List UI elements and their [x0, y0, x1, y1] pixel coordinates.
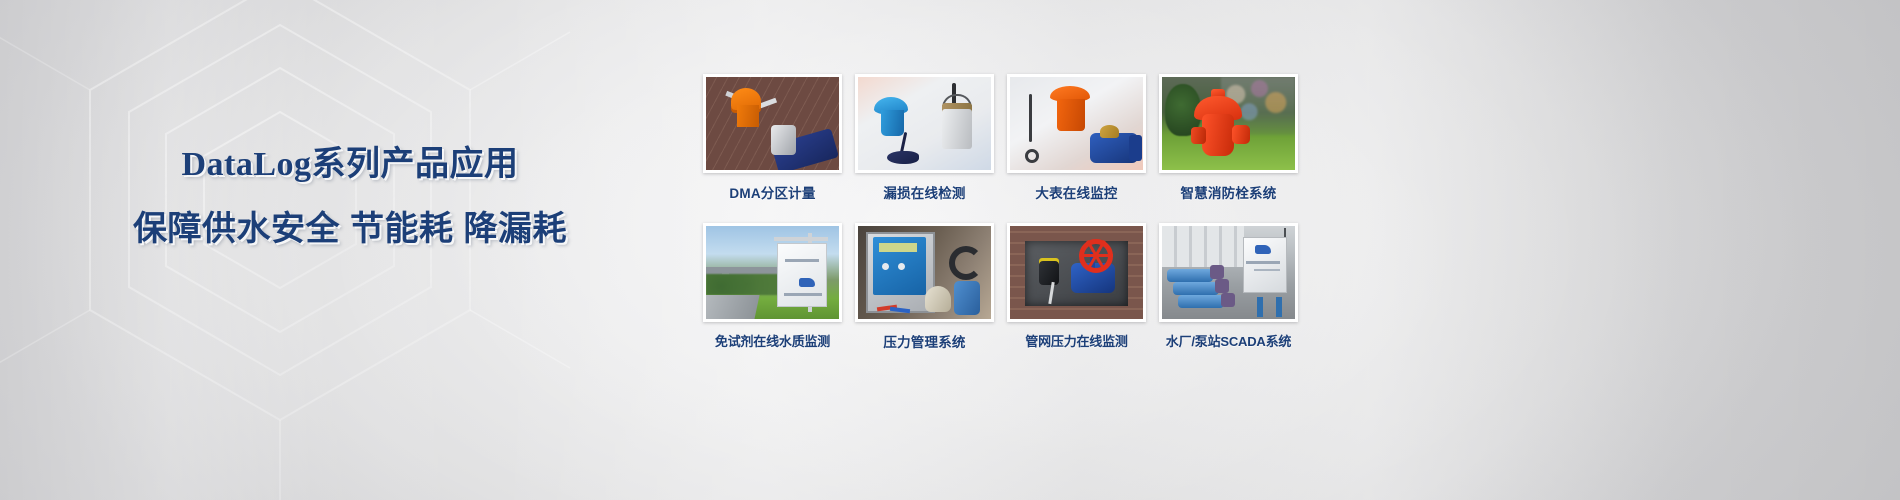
thumbnail-frame[interactable] [855, 223, 994, 322]
hexagon-watermark [0, 0, 590, 500]
product-gallery: DMA分区计量 漏损在线检测 [703, 74, 1853, 351]
thumbnail-frame[interactable] [1007, 74, 1146, 173]
gallery-item-water-quality-monitoring[interactable]: 免试剂在线水质监测 [703, 223, 842, 351]
headline-line-1: DataLog系列产品应用 [0, 148, 700, 182]
promo-banner: DataLog系列产品应用 保障供水安全 节能耗 降漏耗 DMA分区计量 [0, 0, 1900, 500]
gallery-item-caption: 免试剂在线水质监测 [693, 331, 852, 350]
thumbnail-frame[interactable] [1159, 223, 1298, 322]
dma-zone-metering-photo [706, 77, 839, 170]
thumbnail-frame[interactable] [855, 74, 994, 173]
gallery-item-caption: 大表在线监控 [1007, 182, 1146, 202]
gallery-item-pipe-network-pressure[interactable]: 管网压力在线监测 [1007, 223, 1146, 351]
gallery-item-caption: 压力管理系统 [855, 331, 994, 351]
smart-fire-hydrant-photo [1162, 77, 1295, 170]
gallery-item-caption: 漏损在线检测 [855, 182, 994, 202]
gallery-item-leak-online-detection[interactable]: 漏损在线检测 [855, 74, 994, 202]
gallery-item-pressure-management[interactable]: 压力管理系统 [855, 223, 994, 351]
headline-block: DataLog系列产品应用 保障供水安全 节能耗 降漏耗 [0, 148, 700, 246]
gallery-item-scada-system[interactable]: 水厂/泵站SCADA系统 [1159, 223, 1298, 351]
thumbnail-frame[interactable] [703, 223, 842, 322]
thumbnail-frame[interactable] [1159, 74, 1298, 173]
gallery-item-smart-fire-hydrant[interactable]: 智慧消防栓系统 [1159, 74, 1298, 202]
thumbnail-frame[interactable] [1007, 223, 1146, 322]
large-meter-online-monitoring-photo [1010, 77, 1143, 170]
reagent-free-water-quality-photo [706, 226, 839, 319]
leak-online-detection-photo [858, 77, 991, 170]
gallery-item-caption: DMA分区计量 [703, 182, 842, 202]
gallery-item-caption: 管网压力在线监测 [997, 331, 1156, 350]
headline-line-2: 保障供水安全 节能耗 降漏耗 [0, 212, 700, 246]
gallery-item-dma-zone-metering[interactable]: DMA分区计量 [703, 74, 842, 202]
gallery-item-caption: 智慧消防栓系统 [1159, 182, 1298, 202]
pressure-management-cabinet-photo [858, 226, 991, 319]
gallery-row-1: DMA分区计量 漏损在线检测 [703, 74, 1853, 202]
gallery-row-2: 免试剂在线水质监测 压力管理系统 [703, 223, 1853, 351]
gallery-item-caption: 水厂/泵站SCADA系统 [1149, 331, 1308, 350]
gallery-item-large-meter-monitoring[interactable]: 大表在线监控 [1007, 74, 1146, 202]
pipe-network-pressure-photo [1010, 226, 1143, 319]
waterworks-pump-scada-photo [1162, 226, 1295, 319]
thumbnail-frame[interactable] [703, 74, 842, 173]
